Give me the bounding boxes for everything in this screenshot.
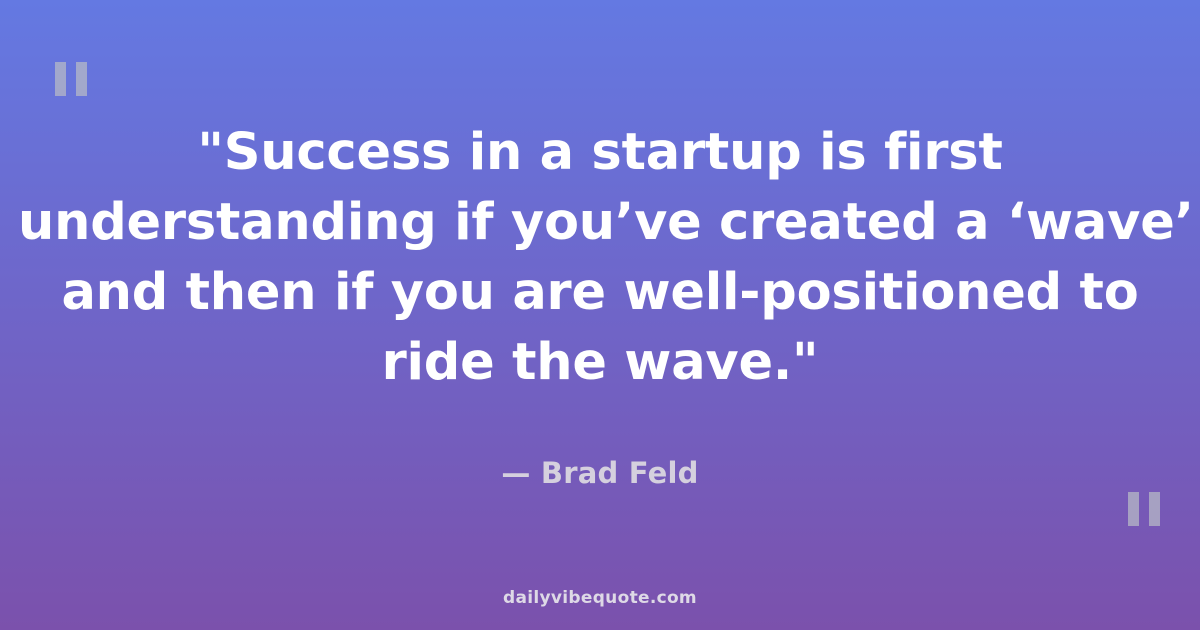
site-watermark: dailyvibequote.com <box>0 588 1200 608</box>
quote-line: "Success in a startup is first <box>18 118 1182 188</box>
quote-mark-top-icon <box>55 62 87 96</box>
quote-text: "Success in a startup is first understan… <box>0 118 1200 398</box>
quote-bar-left <box>1128 492 1139 526</box>
quote-bar-right <box>1149 492 1160 526</box>
quote-line: ride the wave." <box>18 328 1182 398</box>
quote-line: and then if you are well-positioned to <box>18 258 1182 328</box>
quote-content: "Success in a startup is first understan… <box>0 118 1200 490</box>
quote-line: understanding if you’ve created a ‘wave’ <box>18 188 1182 258</box>
quote-card: "Success in a startup is first understan… <box>0 0 1200 630</box>
quote-mark-bottom-icon <box>1128 492 1160 526</box>
quote-attribution: — Brad Feld <box>501 456 698 490</box>
quote-bar-right <box>76 62 87 96</box>
quote-bar-left <box>55 62 66 96</box>
